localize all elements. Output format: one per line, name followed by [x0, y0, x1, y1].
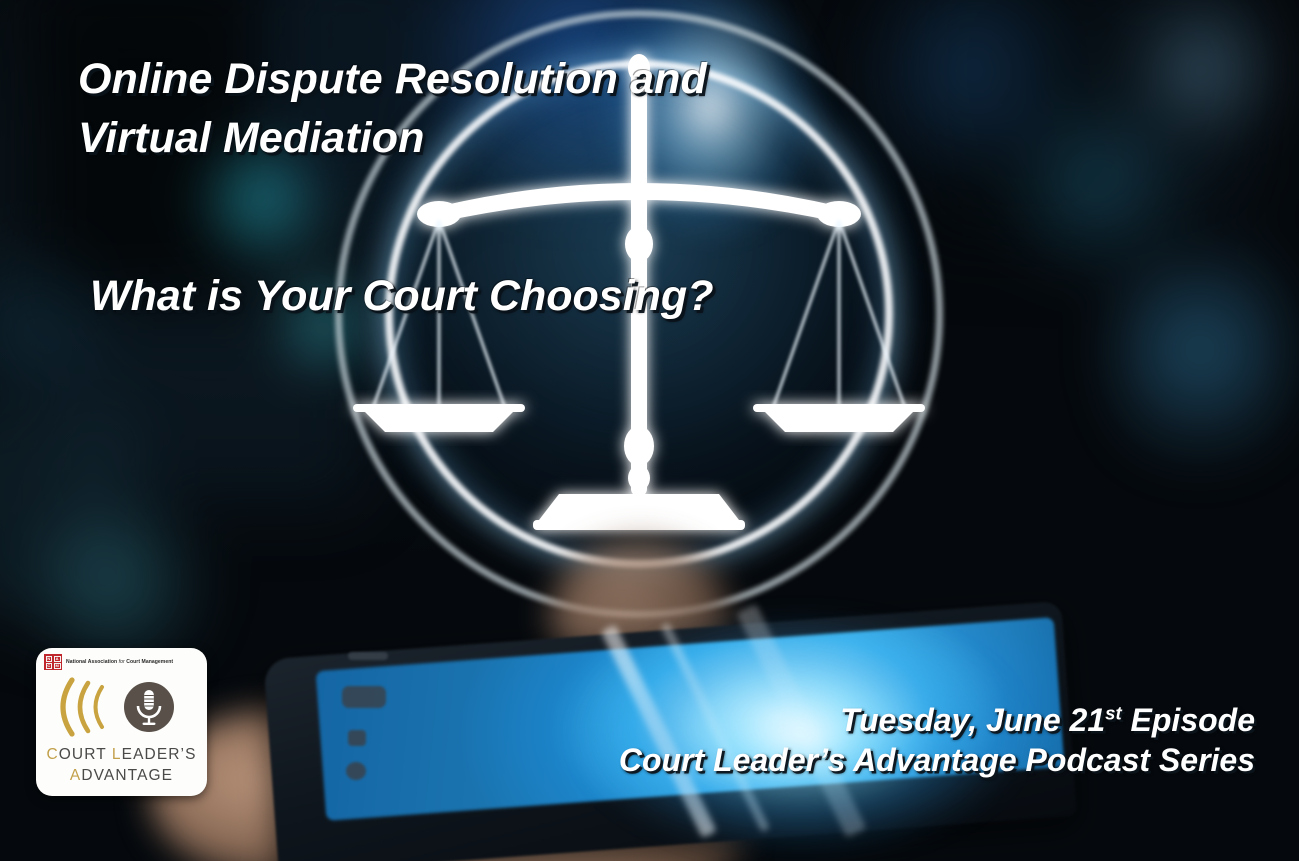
- brand-initial-c: C: [46, 746, 58, 763]
- nacm-name-part-1: National Association: [66, 659, 119, 665]
- brand-initial-a: A: [70, 767, 81, 784]
- slide-canvas: Online Dispute Resolution and Virtual Me…: [0, 0, 1299, 861]
- brand-initial-l: L: [112, 746, 122, 763]
- brand-line-1: COURT LEADER’S: [36, 744, 207, 765]
- sound-wave-arcs-icon: [63, 680, 102, 734]
- slide-title: Online Dispute Resolution and Virtual Me…: [78, 50, 978, 168]
- slide-question: What is Your Court Choosing?: [90, 268, 713, 324]
- brand-rest-court: OURT: [59, 746, 112, 763]
- nacm-header: N A C M National Association for Court M…: [44, 654, 173, 670]
- brand-wordmark: COURT LEADER’S ADVANTAGE: [36, 744, 207, 786]
- nacm-name-part-2: Court Management: [125, 659, 173, 665]
- brand-line-2: ADVANTAGE: [36, 765, 207, 786]
- nacm-cell-a: A: [54, 656, 61, 662]
- podcast-series-line: Court Leader’s Advantage Podcast Series: [619, 740, 1255, 780]
- episode-date-prefix: Tuesday, June 21: [840, 702, 1105, 738]
- episode-date-line: Tuesday, June 21st Episode: [619, 700, 1255, 740]
- nacm-cell-m: M: [54, 663, 61, 669]
- title-line-2: Virtual Mediation: [78, 109, 978, 168]
- nacm-cell-c: C: [46, 663, 53, 669]
- podcast-logo-art: [52, 676, 192, 738]
- episode-info: Tuesday, June 21st Episode Court Leader’…: [619, 700, 1255, 780]
- court-leaders-advantage-logo-card[interactable]: N A C M National Association for Court M…: [36, 648, 207, 796]
- nacm-cell-n: N: [46, 656, 53, 662]
- nacm-association-name: National Association for Court Managemen…: [66, 659, 173, 665]
- title-line-1: Online Dispute Resolution and: [78, 50, 978, 109]
- brand-rest-leaders: EADER’S: [122, 746, 197, 763]
- episode-date-ordinal: st: [1105, 702, 1122, 723]
- brand-rest-advantage: DVANTAGE: [81, 767, 173, 784]
- nacm-mark-icon: N A C M: [44, 654, 62, 670]
- episode-date-suffix: Episode: [1122, 702, 1255, 738]
